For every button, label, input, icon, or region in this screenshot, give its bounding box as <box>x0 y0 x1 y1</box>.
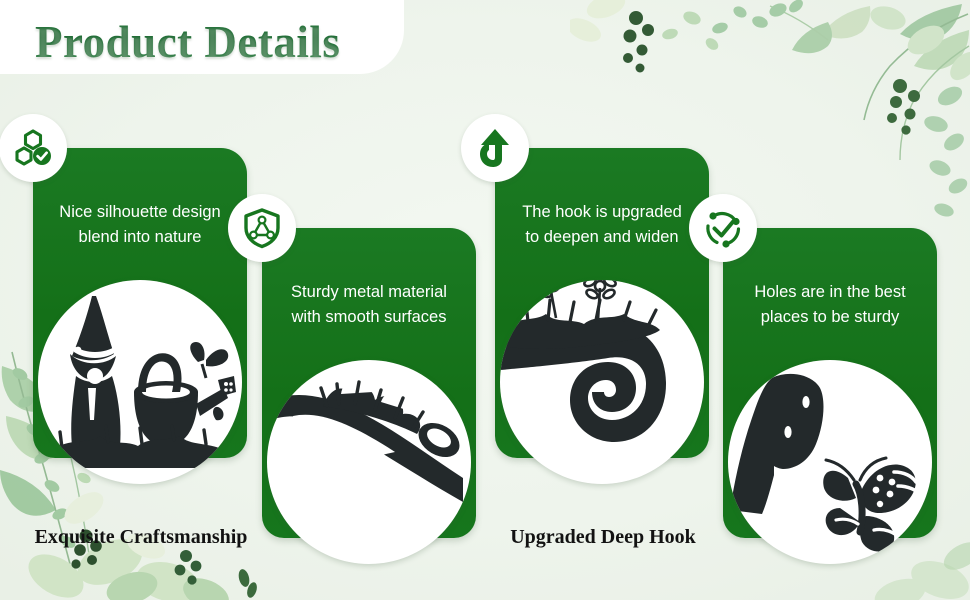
card-caption: Upgraded Deep Hook <box>453 526 753 549</box>
card-text: Sturdy metal material with smooth surfac… <box>270 280 468 330</box>
page-title: Product Details <box>35 16 340 68</box>
infographic-canvas: Product Details Nice silhouette design b… <box>0 0 970 600</box>
metal-bracket-plants-silhouette <box>267 360 471 564</box>
drilled-plate-butterfly-silhouette <box>728 360 932 564</box>
medallion <box>719 351 941 573</box>
card-text: Holes are in the best places to be sturd… <box>731 280 929 330</box>
upgrade-arrow-icon <box>461 114 529 182</box>
medallion <box>258 351 480 573</box>
card-caption: Exquisite Craftsmanship <box>0 526 291 549</box>
check-circle-nodes-icon <box>689 194 757 262</box>
spiral-hook-grass-flowers-silhouette <box>500 280 704 484</box>
card-text: Nice silhouette design blend into nature <box>41 200 239 250</box>
shield-molecule-icon <box>228 194 296 262</box>
card-text: The hook is upgraded to deepen and widen <box>503 200 701 250</box>
garden-gnome-watering-can-silhouette <box>38 280 242 484</box>
medallion <box>491 271 713 493</box>
medallion <box>29 271 251 493</box>
hexagon-check-icon <box>0 114 67 182</box>
